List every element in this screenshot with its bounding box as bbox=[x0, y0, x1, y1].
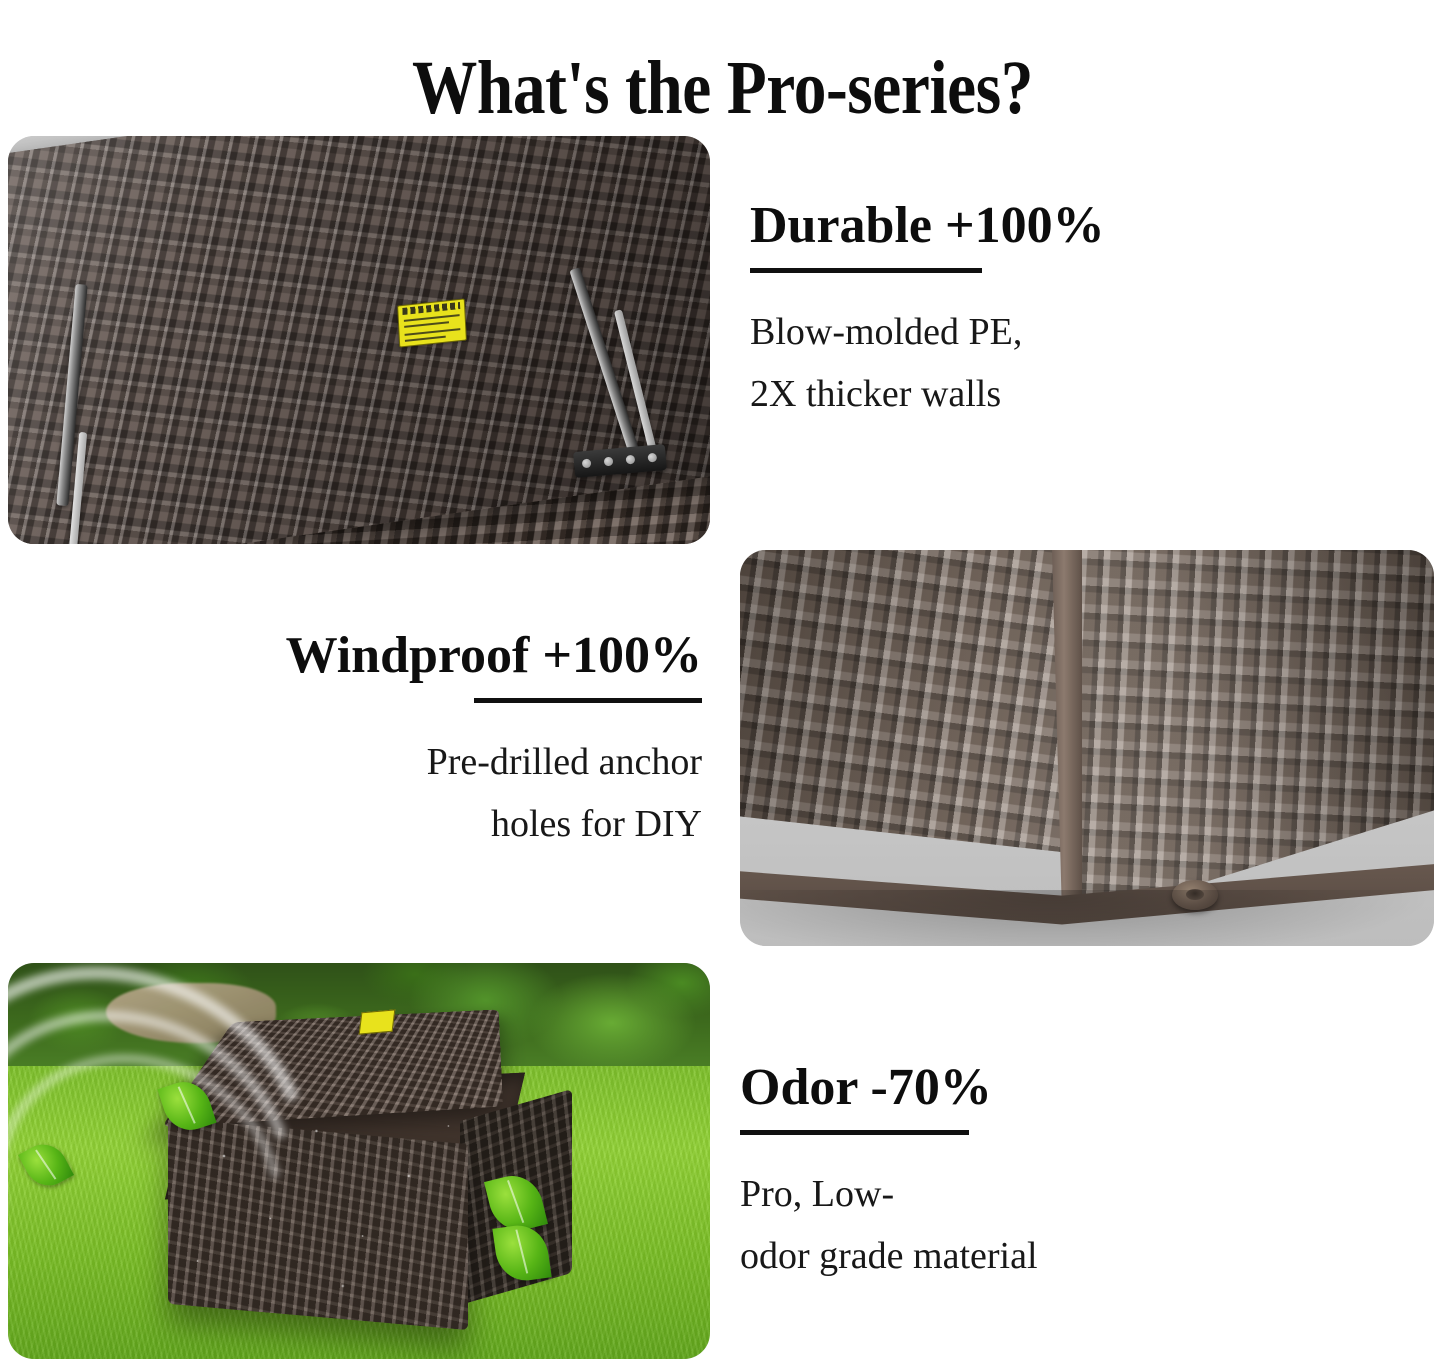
feature-text-windproof: Windproof +100% Pre-drilled anchor holes… bbox=[190, 626, 702, 855]
feature-body-line: 2X thicker walls bbox=[750, 363, 1310, 425]
feature-body-line: Pre-drilled anchor bbox=[190, 731, 702, 793]
deck-box-open-lid bbox=[8, 136, 710, 544]
feature-body-odor: Pro, Low- odor grade material bbox=[740, 1135, 1300, 1287]
warning-label-text-line-1 bbox=[404, 314, 460, 322]
feature-image-windproof bbox=[740, 550, 1434, 946]
warning-label-text-line-4 bbox=[405, 336, 446, 342]
warning-label-sticker bbox=[397, 298, 467, 347]
ground-shadow bbox=[740, 890, 1434, 946]
feature-image-odor bbox=[8, 963, 710, 1359]
feature-image-durable bbox=[8, 136, 710, 544]
odor-photo-scene bbox=[8, 963, 710, 1359]
feature-body-windproof: Pre-drilled anchor holes for DIY bbox=[190, 703, 702, 855]
feature-body-line: Blow-molded PE, bbox=[750, 301, 1310, 363]
feature-body-line: odor grade material bbox=[740, 1225, 1300, 1287]
hinge-bolt-2 bbox=[604, 457, 614, 467]
feature-text-odor: Odor -70% Pro, Low- odor grade material bbox=[740, 1058, 1300, 1287]
feature-heading-odor: Odor -70% bbox=[740, 1058, 1300, 1118]
hinge-bolt-1 bbox=[582, 459, 592, 469]
warning-label-text-line-3 bbox=[405, 328, 461, 336]
feature-heading-durable: Durable +100% bbox=[750, 196, 1310, 256]
feature-text-durable: Durable +100% Blow-molded PE, 2X thicker… bbox=[750, 196, 1310, 425]
feature-body-line: Pro, Low- bbox=[740, 1163, 1300, 1225]
warning-label-header-bar bbox=[402, 302, 460, 315]
hinge-bolt-4 bbox=[647, 453, 657, 463]
windproof-photo-scene bbox=[740, 550, 1434, 946]
feature-body-durable: Blow-molded PE, 2X thicker walls bbox=[750, 273, 1310, 425]
durable-photo-scene bbox=[8, 136, 710, 544]
feature-heading-windproof: Windproof +100% bbox=[190, 626, 702, 686]
warning-label-sticker bbox=[359, 1009, 396, 1034]
page-title: What's the Pro-series? bbox=[101, 45, 1344, 131]
warning-label-text-line-2 bbox=[404, 321, 449, 328]
feature-body-line: holes for DIY bbox=[190, 793, 702, 855]
lid-shading bbox=[8, 136, 710, 544]
hinge-bolt-3 bbox=[626, 455, 636, 465]
